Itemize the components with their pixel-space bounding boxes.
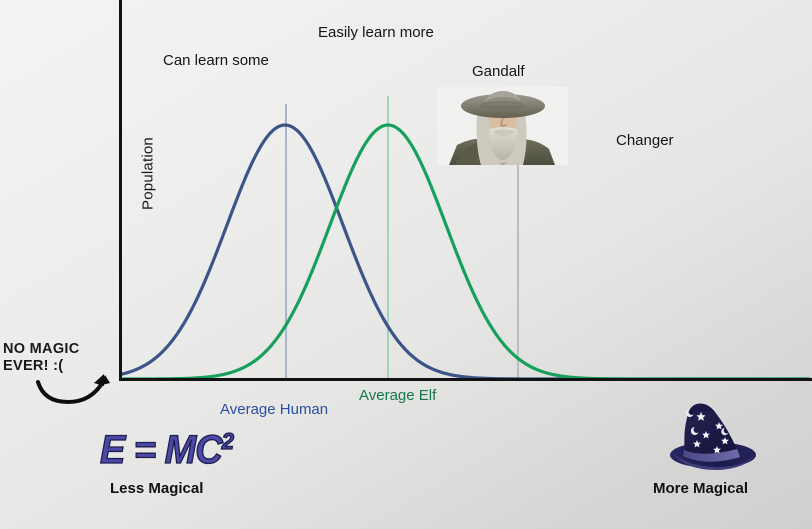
annotation-gandalf: Gandalf	[472, 63, 525, 80]
x-label-average-elf: Average Elf	[359, 387, 436, 404]
equation-emc2: E = MC2	[100, 428, 233, 474]
mean-line-average-elf	[387, 96, 389, 380]
wizard-hat-icon	[663, 398, 763, 476]
mean-line-average-human	[285, 104, 287, 380]
mean-line-gandalf	[517, 150, 519, 380]
equation-text: E = MC	[100, 429, 222, 473]
x-axis	[119, 378, 812, 381]
y-axis	[119, 0, 122, 381]
caption-less-magical: Less Magical	[110, 480, 203, 497]
annotation-can-learn-some: Can learn some	[163, 52, 269, 69]
annotation-changer: Changer	[616, 132, 674, 149]
curved-arrow-icon	[30, 370, 130, 415]
x-label-average-human: Average Human	[220, 401, 328, 418]
annotation-easily-learn-more: Easily learn more	[318, 24, 434, 41]
equation-exponent: 2	[222, 428, 233, 454]
gandalf-portrait-image	[437, 87, 568, 165]
y-axis-title: Population	[140, 114, 157, 234]
caption-more-magical: More Magical	[653, 480, 748, 497]
chart-figure: Population Can learn some Easily learn m…	[0, 0, 812, 529]
